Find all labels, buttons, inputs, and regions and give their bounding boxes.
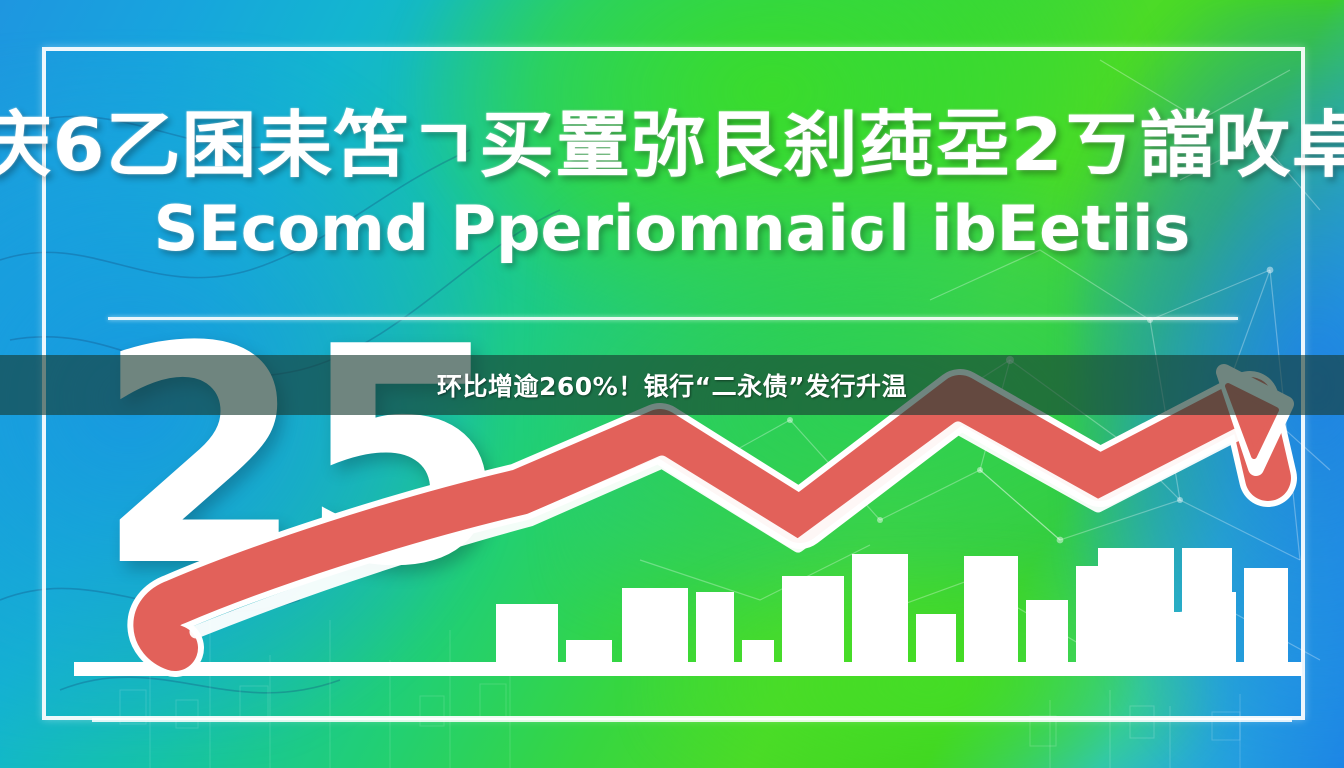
- bar-group: [330, 548, 1288, 668]
- page-title: 庆6乙囷耒笘ㄱ买罿弥艮刹莼坖2ㄎ譡呚卓: [0, 86, 1344, 191]
- page-subtitle: SEcomd Pperiomnaiԍl ibEetiis: [0, 192, 1344, 265]
- poster-canvas: 25: [0, 0, 1344, 768]
- caption-text: 环比增逾260%！银行“二永债”发行升温: [437, 367, 907, 403]
- caption-overlay-bar: 环比增逾260%！银行“二永债”发行升温: [0, 355, 1344, 415]
- title-divider: [108, 317, 1238, 320]
- chart-baseline: [74, 662, 1302, 676]
- bottom-rule: [92, 718, 1292, 722]
